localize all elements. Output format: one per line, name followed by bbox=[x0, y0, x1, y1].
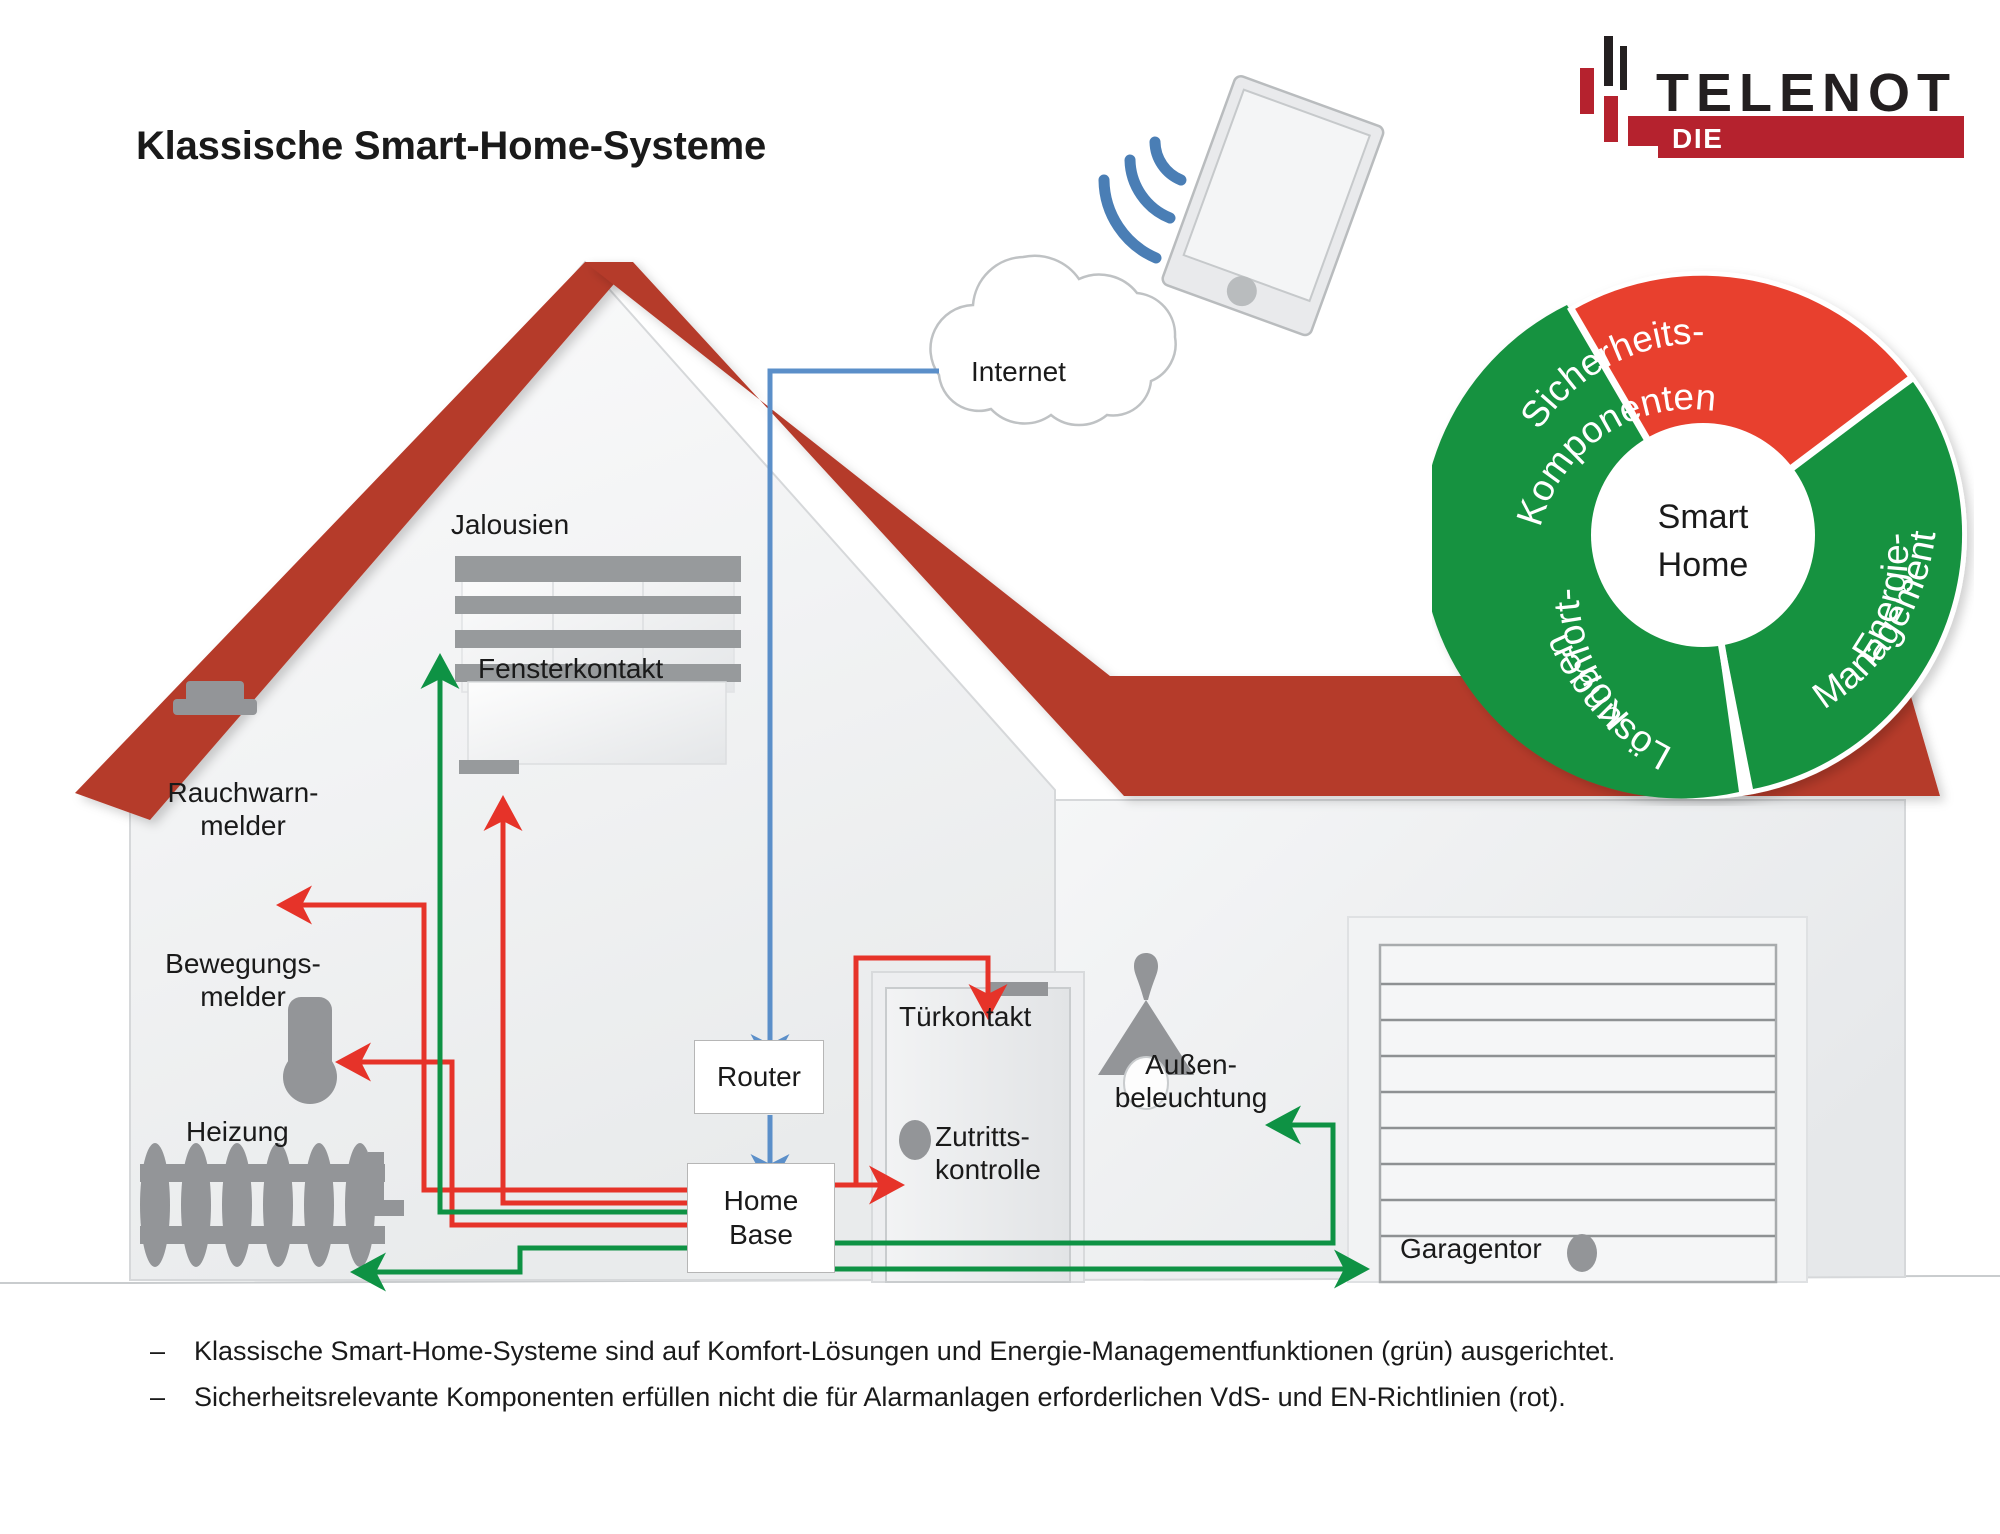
link-homebase-blinds bbox=[440, 658, 698, 1212]
telenot-logo: TELENOT DIE ALARMANLAGE bbox=[1572, 32, 1964, 150]
footer-notes: – Klassische Smart-Home-Systeme sind auf… bbox=[150, 1334, 1950, 1425]
label-bewegungsmelder: Bewegungs- melder bbox=[128, 947, 358, 1013]
label-garagentor: Garagentor bbox=[1400, 1232, 1542, 1265]
bullet-marker: – bbox=[150, 1380, 194, 1416]
label-tuerkontakt: Türkontakt bbox=[899, 1000, 1031, 1033]
label-aussenbeleuchtung: Außen- beleuchtung bbox=[1080, 1048, 1302, 1114]
node-home-base[interactable]: Home Base bbox=[687, 1163, 835, 1273]
logo-mark-bar-4 bbox=[1604, 96, 1618, 142]
bullet-marker: – bbox=[150, 1334, 194, 1370]
label-fensterkontakt: Fensterkontakt bbox=[478, 652, 663, 685]
label-internet: Internet bbox=[971, 355, 1066, 388]
donut-center-line2: Home bbox=[1658, 546, 1749, 584]
page-title: Klassische Smart-Home-Systeme bbox=[136, 124, 766, 169]
label-rauchwarnmelder: Rauchwarn- melder bbox=[128, 776, 358, 842]
label-heizung: Heizung bbox=[186, 1115, 289, 1148]
link-homebase-heating bbox=[355, 1248, 698, 1272]
smart-home-donut-chart: Sicherheits- Komponenten Komfort- Lösung… bbox=[1432, 264, 1974, 806]
logo-mark-bar-2 bbox=[1620, 46, 1627, 90]
logo-wordmark: TELENOT bbox=[1656, 62, 1957, 124]
logo-mark-square bbox=[1628, 116, 1658, 146]
footer-bullet-1: – Klassische Smart-Home-Systeme sind auf… bbox=[150, 1334, 1950, 1370]
label-jalousien: Jalousien bbox=[420, 508, 600, 541]
donut-svg: Sicherheits- Komponenten Komfort- Lösung… bbox=[1432, 264, 1974, 806]
footer-bullet-2: – Sicherheitsrelevante Komponenten erfül… bbox=[150, 1380, 1950, 1416]
infographic-canvas: Klassische Smart-Home-Systeme TELENOT DI… bbox=[0, 0, 2000, 1534]
node-router[interactable]: Router bbox=[694, 1040, 824, 1114]
logo-tagline-bar: DIE ALARMANLAGE bbox=[1658, 116, 1964, 158]
logo-tagline: DIE ALARMANLAGE bbox=[1672, 123, 1964, 187]
footer-text-1: Klassische Smart-Home-Systeme sind auf K… bbox=[194, 1334, 1615, 1370]
logo-mark-bar-3 bbox=[1580, 68, 1594, 114]
link-homebase-outdoorlight bbox=[835, 1125, 1333, 1243]
link-homebase-windowcontact bbox=[503, 800, 698, 1203]
logo-mark-bar-1 bbox=[1604, 36, 1613, 86]
donut-center-line1: Smart bbox=[1658, 498, 1749, 536]
footer-text-2: Sicherheitsrelevante Komponenten erfülle… bbox=[194, 1380, 1566, 1416]
label-zutrittskontrolle: Zutritts- kontrolle bbox=[935, 1120, 1041, 1186]
